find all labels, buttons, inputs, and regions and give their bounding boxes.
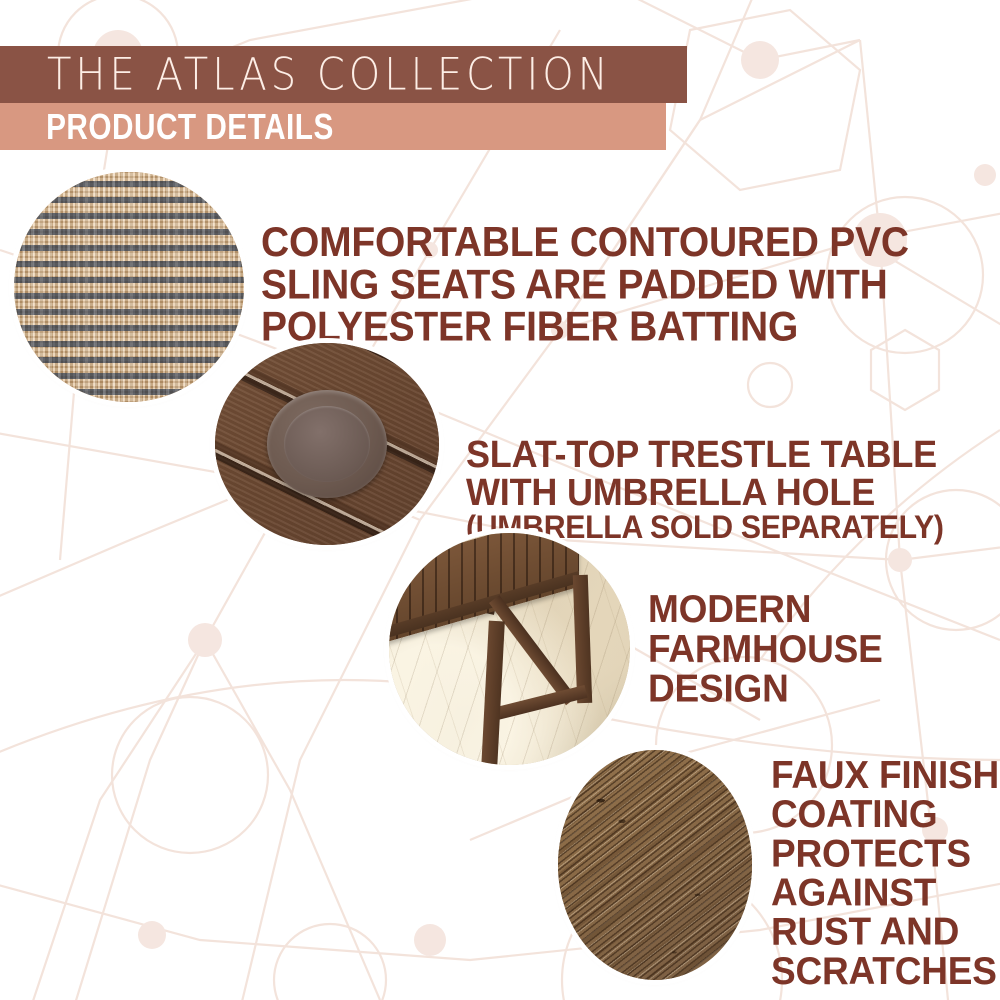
umbrella-hole-cap xyxy=(267,390,387,498)
collection-title-bar: THE ATLAS COLLECTION xyxy=(0,46,687,103)
feature-label-farmhouse-design: MODERN FARMHOUSE DESIGN xyxy=(648,589,883,709)
slat-table-umbrella-hole-photo xyxy=(215,343,439,545)
wood-knot-speckles xyxy=(558,750,752,980)
product-details-infographic: THE ATLAS COLLECTION PRODUCT DETAILS COM… xyxy=(0,0,1000,1000)
feature-label-sling-seats: COMFORTABLE CONTOURED PVC SLING SEATS AR… xyxy=(261,222,909,348)
section-title-bar: PRODUCT DETAILS xyxy=(0,103,666,150)
feature-label-faux-finish: FAUX FINISH COATING PROTECTS AGAINST RUS… xyxy=(771,755,999,990)
fabric-warp-texture xyxy=(14,172,244,402)
collection-title-text: THE ATLAS COLLECTION xyxy=(0,52,612,97)
faux-wood-finish-swatch-photo xyxy=(558,750,752,980)
feature-label-trestle-table-main: SLAT-TOP TRESTLE TABLE WITH UMBRELLA HOL… xyxy=(466,432,937,514)
section-title-text: PRODUCT DETAILS xyxy=(0,108,334,145)
trestle-table-leg-photo xyxy=(389,533,630,765)
pvc-sling-fabric-swatch-photo xyxy=(14,172,244,402)
